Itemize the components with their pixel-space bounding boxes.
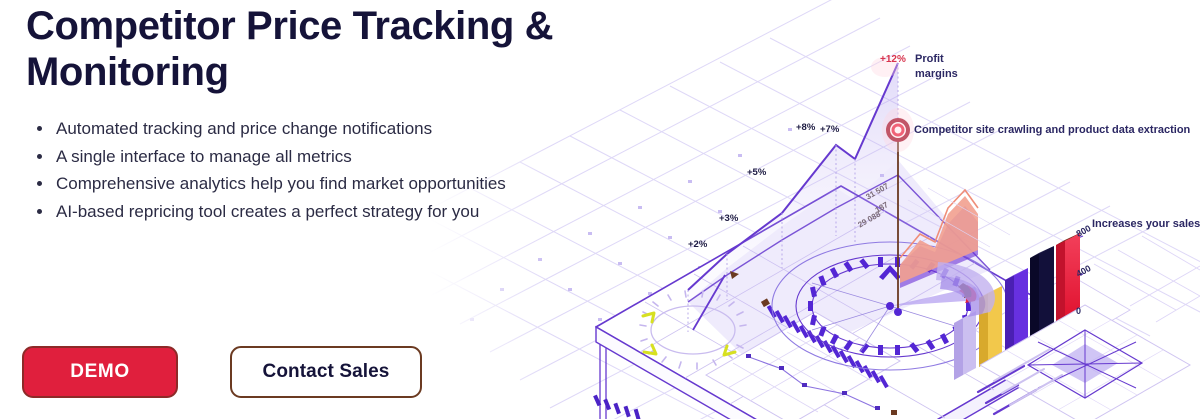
contact-sales-button[interactable]: Contact Sales xyxy=(230,346,422,398)
list-item: A single interface to manage all metrics xyxy=(30,148,650,165)
demo-button[interactable]: DEMO xyxy=(22,346,178,398)
list-item: AI-based repricing tool creates a perfec… xyxy=(30,203,650,220)
page-title: Competitor Price Tracking & Monitoring xyxy=(26,4,686,95)
cta-button-row: DEMO Contact Sales xyxy=(22,346,422,398)
feature-list: Automated tracking and price change noti… xyxy=(30,120,650,230)
list-item: Automated tracking and price change noti… xyxy=(30,120,650,137)
hero-text-column: Competitor Price Tracking & Monitoring A… xyxy=(0,0,680,419)
list-item: Comprehensive analytics help you find ma… xyxy=(30,175,650,192)
hero-section: Competitor Price Tracking & Monitoring A… xyxy=(0,0,1200,419)
